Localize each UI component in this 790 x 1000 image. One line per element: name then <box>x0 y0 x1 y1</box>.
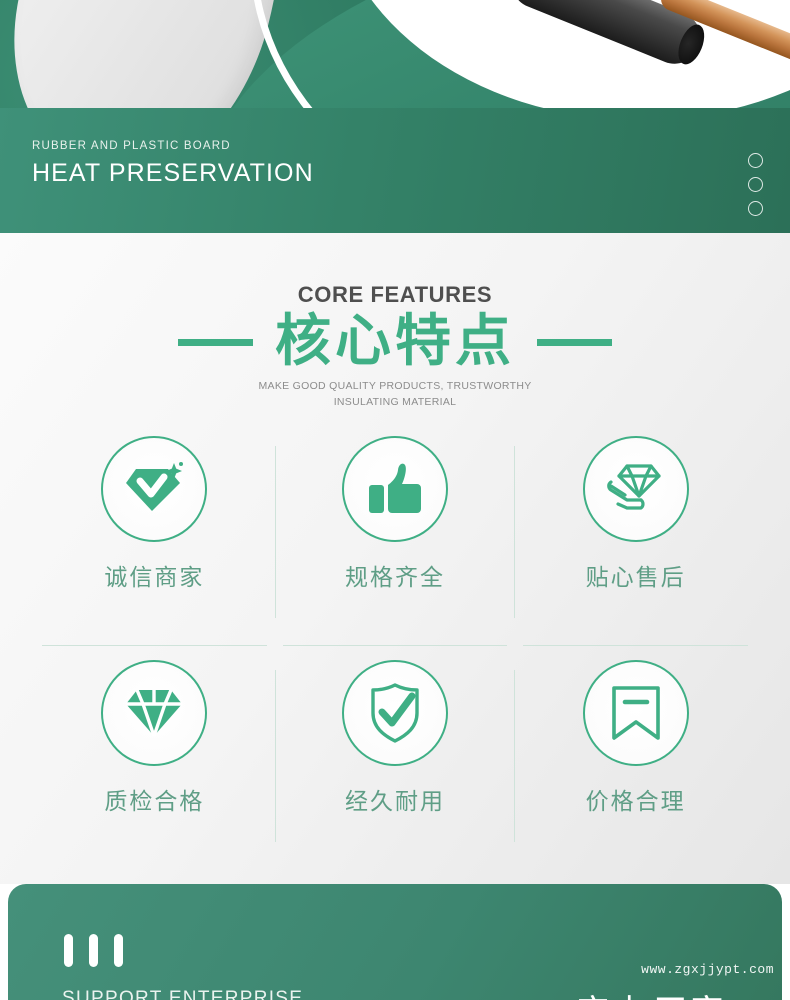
row-divider <box>523 645 748 646</box>
feature-label: 贴心售后 <box>586 558 686 592</box>
feature-item[interactable]: 贴心售后 <box>515 430 756 654</box>
bar-icon <box>89 934 98 967</box>
feature-label: 诚信商家 <box>104 558 204 592</box>
rule-left <box>178 339 253 346</box>
bookmark-icon <box>609 683 663 743</box>
footer-banner: SUPPORT ENTERPRISE 实力厂家 支持定制采购 www.zgxjj… <box>8 884 782 1000</box>
feature-item[interactable]: 价格合理 <box>515 654 756 878</box>
pagination-dots[interactable] <box>748 153 763 216</box>
row-divider <box>283 645 508 646</box>
thumbs-up-icon <box>366 461 424 517</box>
feature-label: 质检合格 <box>104 782 204 816</box>
diamond-icon <box>124 686 184 740</box>
section-title-en: CORE FEATURES <box>0 282 790 308</box>
feature-icon-wrap <box>342 436 448 542</box>
core-features-section: CORE FEATURES 核心特点 MAKE GOOD QUALITY PRO… <box>0 233 790 884</box>
hero-kicker: RUBBER AND PLASTIC BOARD <box>32 140 314 152</box>
hero-banner: RUBBER AND PLASTIC BOARD HEAT PRESERVATI… <box>0 0 790 233</box>
subtitle-line-2: INSULATING MATERIAL <box>334 396 457 408</box>
section-subtitle: MAKE GOOD QUALITY PRODUCTS, TRUSTWORTHY … <box>0 379 790 409</box>
footer-title-cn-1: 实力厂家 <box>576 985 728 1000</box>
feature-label: 价格合理 <box>586 782 686 816</box>
dot-icon[interactable] <box>748 201 763 216</box>
dot-icon[interactable] <box>748 153 763 168</box>
feature-item[interactable]: 质检合格 <box>34 654 275 878</box>
feature-item[interactable]: 规格齐全 <box>275 430 516 654</box>
feature-icon-wrap <box>342 660 448 766</box>
features-grid: 诚信商家 规格齐全 <box>34 430 756 878</box>
dot-icon[interactable] <box>748 177 763 192</box>
feature-icon-wrap <box>583 660 689 766</box>
rule-right <box>537 339 612 346</box>
footer-subtitle-en: SUPPORT ENTERPRISE <box>62 988 303 1000</box>
section-title-cn: 核心特点 <box>275 312 515 372</box>
feature-label: 规格齐全 <box>345 558 445 592</box>
feature-icon-wrap <box>583 436 689 542</box>
subtitle-line-1: MAKE GOOD QUALITY PRODUCTS, TRUSTWORTHY <box>258 380 531 392</box>
diamond-check-icon <box>124 461 184 517</box>
feature-icon-wrap <box>101 436 207 542</box>
feature-item[interactable]: 经久耐用 <box>275 654 516 878</box>
hero-text-block: RUBBER AND PLASTIC BOARD HEAT PRESERVATI… <box>32 140 314 188</box>
hand-holding-diamond-icon <box>605 460 667 518</box>
feature-label: 经久耐用 <box>345 782 445 816</box>
shield-check-icon <box>367 682 423 744</box>
section-title-cn-row: 核心特点 <box>0 312 790 372</box>
product-detail-page: RUBBER AND PLASTIC BOARD HEAT PRESERVATI… <box>0 0 790 1000</box>
hero-title-band: RUBBER AND PLASTIC BOARD HEAT PRESERVATI… <box>0 108 790 233</box>
bar-icon <box>114 934 123 967</box>
decorative-bars <box>64 934 123 967</box>
bar-icon <box>64 934 73 967</box>
row-divider <box>42 645 267 646</box>
site-watermark: www.zgxjjypt.com <box>641 962 774 977</box>
feature-item[interactable]: 诚信商家 <box>34 430 275 654</box>
feature-icon-wrap <box>101 660 207 766</box>
section-heading: CORE FEATURES 核心特点 MAKE GOOD QUALITY PRO… <box>0 233 790 410</box>
hero-title: HEAT PRESERVATION <box>32 159 314 188</box>
